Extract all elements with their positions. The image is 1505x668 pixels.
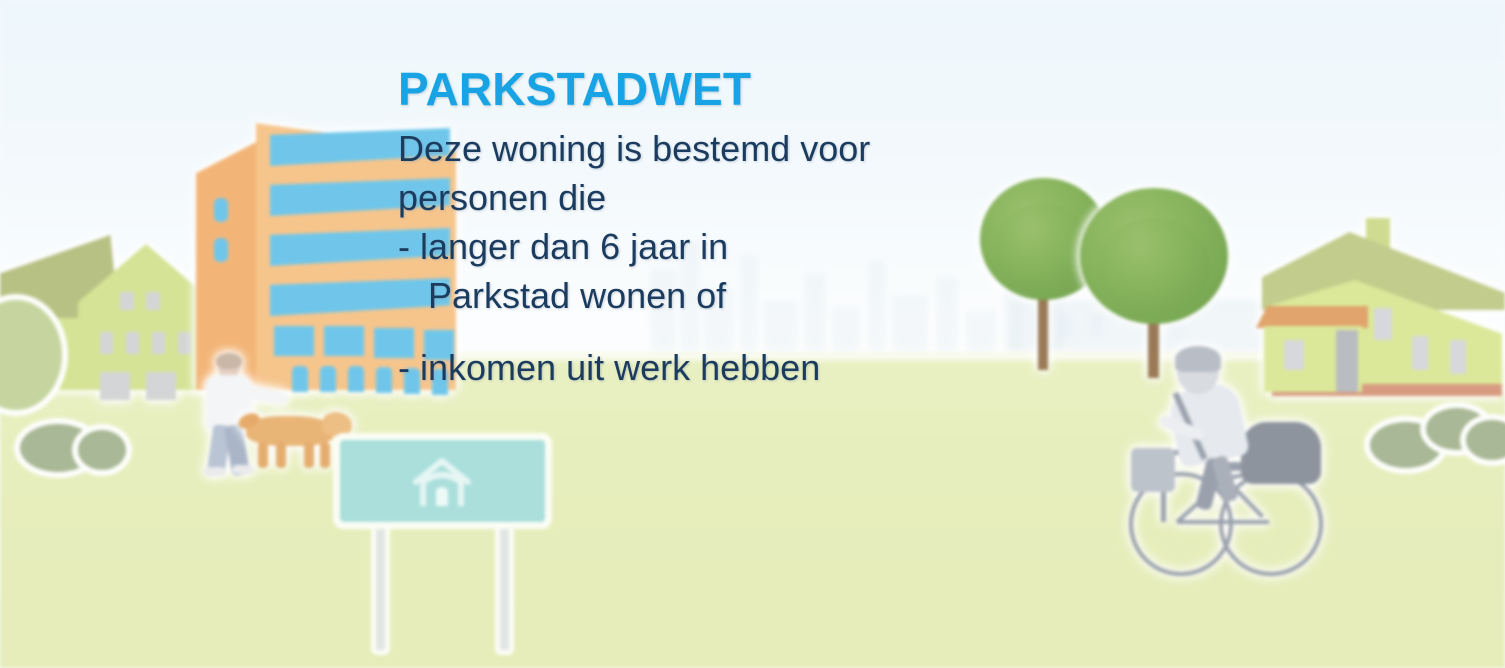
slide-text-block: PARKSTADWET Deze woning is bestemd voor … <box>398 66 1098 392</box>
body-line-last: - inkomen uit werk hebben <box>398 343 1098 392</box>
text-layer: PARKSTADWET Deze woning is bestemd voor … <box>0 0 1505 668</box>
slide-canvas: PARKSTADWET Deze woning is bestemd voor … <box>0 0 1505 668</box>
text-spacer <box>398 320 1098 343</box>
body-line: Parkstad wonen of <box>398 271 1098 320</box>
page-title: PARKSTADWET <box>398 66 1098 112</box>
body-line: personen die <box>398 173 1098 222</box>
body-line: Deze woning is bestemd voor <box>398 124 1098 173</box>
body-line: - langer dan 6 jaar in <box>398 222 1098 271</box>
